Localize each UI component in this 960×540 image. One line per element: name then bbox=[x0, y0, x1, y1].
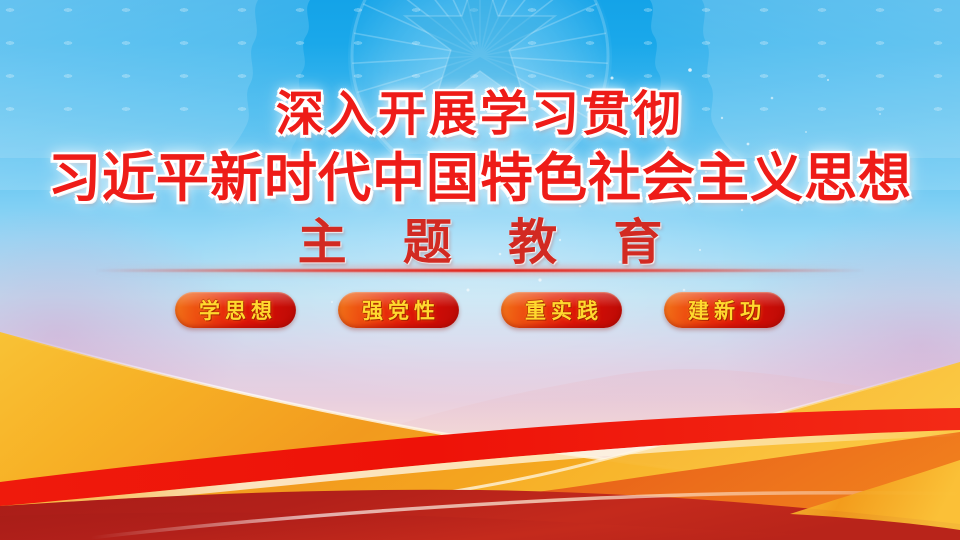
headline-line-2: 习近平新时代中国特色社会主义思想 bbox=[0, 136, 960, 212]
subtitle-theme-education: 主 题 教 育 bbox=[0, 203, 960, 274]
banner-poster: 深入开展学习贯彻 习近平新时代中国特色社会主义思想 主 题 教 育 学思想 强党… bbox=[0, 0, 960, 540]
divider-rule bbox=[95, 269, 865, 272]
slogan-badge-3-label: 重实践 bbox=[520, 295, 603, 325]
slogan-badge-2[interactable]: 强党性 bbox=[338, 292, 459, 328]
slogan-badge-4-label: 建新功 bbox=[683, 295, 766, 325]
headline-line-1: 深入开展学习贯彻 bbox=[0, 74, 960, 144]
slogan-badge-1-label: 学思想 bbox=[194, 295, 277, 325]
slogan-badge-4[interactable]: 建新功 bbox=[664, 292, 785, 328]
banner-text-block: 深入开展学习贯彻 习近平新时代中国特色社会主义思想 主 题 教 育 学思想 强党… bbox=[0, 0, 960, 540]
slogan-badge-2-label: 强党性 bbox=[357, 295, 440, 325]
slogan-badge-list: 学思想 强党性 重实践 建新功 bbox=[0, 292, 960, 328]
slogan-badge-1[interactable]: 学思想 bbox=[175, 292, 296, 328]
slogan-badge-3[interactable]: 重实践 bbox=[501, 292, 622, 328]
